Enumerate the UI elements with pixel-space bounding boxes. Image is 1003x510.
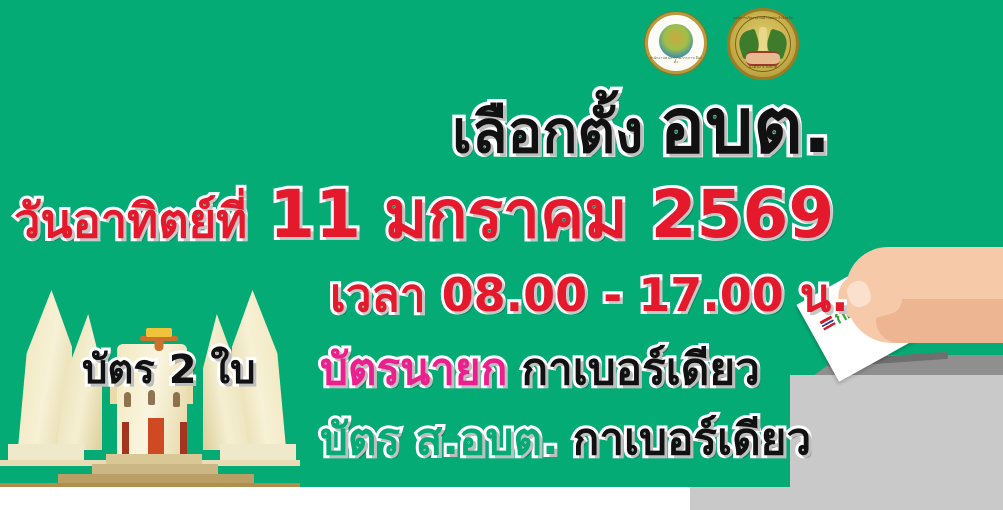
kkt-seal-logo: สำนักงานคณะกรรมการการเลือกตั้ง bbox=[645, 12, 707, 74]
constitution-book-icon bbox=[146, 328, 172, 337]
ballot-box-bottom-extension bbox=[690, 487, 1003, 510]
mayor-ballot-title: บัตรนายก bbox=[320, 348, 507, 392]
council-ballot-title: บัตร ส.อบต. bbox=[320, 418, 559, 462]
local-administration-seal-logo: องค์การบริหารส่วนตำบลประจำจังหวัด อ.เมือ… bbox=[727, 8, 799, 80]
monument-niche-right bbox=[173, 392, 180, 407]
council-ballot-row: บัตร ส.อบต.กาเบอร์เดียว bbox=[320, 418, 811, 462]
time-line: เวลา 08.00 - 17.00 น. bbox=[330, 272, 849, 318]
date-line: วันอาทิตย์ที่11 มกราคม 2569 bbox=[14, 182, 834, 248]
monument-door-center bbox=[148, 418, 164, 456]
seal-microtext-top: องค์การบริหารส่วนตำบลประจำจังหวัด bbox=[730, 17, 796, 21]
mayor-ballot-instruction: กาเบอร์เดียว bbox=[521, 348, 759, 392]
ballot-count-label: บัตร 2 ใบ bbox=[82, 350, 255, 390]
date-prefix: วันอาทิตย์ที่ bbox=[14, 198, 247, 245]
headline-emphasis: อบต. bbox=[659, 88, 831, 164]
kkt-seal-microtext: สำนักงานคณะกรรมการการเลือกตั้ง bbox=[648, 57, 704, 64]
mayor-ballot-row: บัตรนายกกาเบอร์เดียว bbox=[320, 348, 760, 392]
date-value: 11 มกราคม 2569 bbox=[269, 182, 834, 248]
council-ballot-instruction: กาเบอร์เดียว bbox=[573, 418, 811, 462]
kkt-seal-inner bbox=[659, 24, 693, 58]
monument-niche-left bbox=[124, 392, 131, 407]
headline: เลือกตั้งอบต. bbox=[452, 88, 831, 164]
seal-microtext-bottom: อ.เมือง จ.จังหวัด bbox=[730, 65, 796, 69]
monument-door-left bbox=[122, 422, 129, 456]
headline-lead: เลือกตั้ง bbox=[452, 103, 643, 161]
monument-door-right bbox=[180, 422, 187, 456]
voting-hand-icon bbox=[846, 247, 1003, 343]
election-poster: สำนักงานคณะกรรมการการเลือกตั้ง องค์การบร… bbox=[0, 0, 1003, 510]
